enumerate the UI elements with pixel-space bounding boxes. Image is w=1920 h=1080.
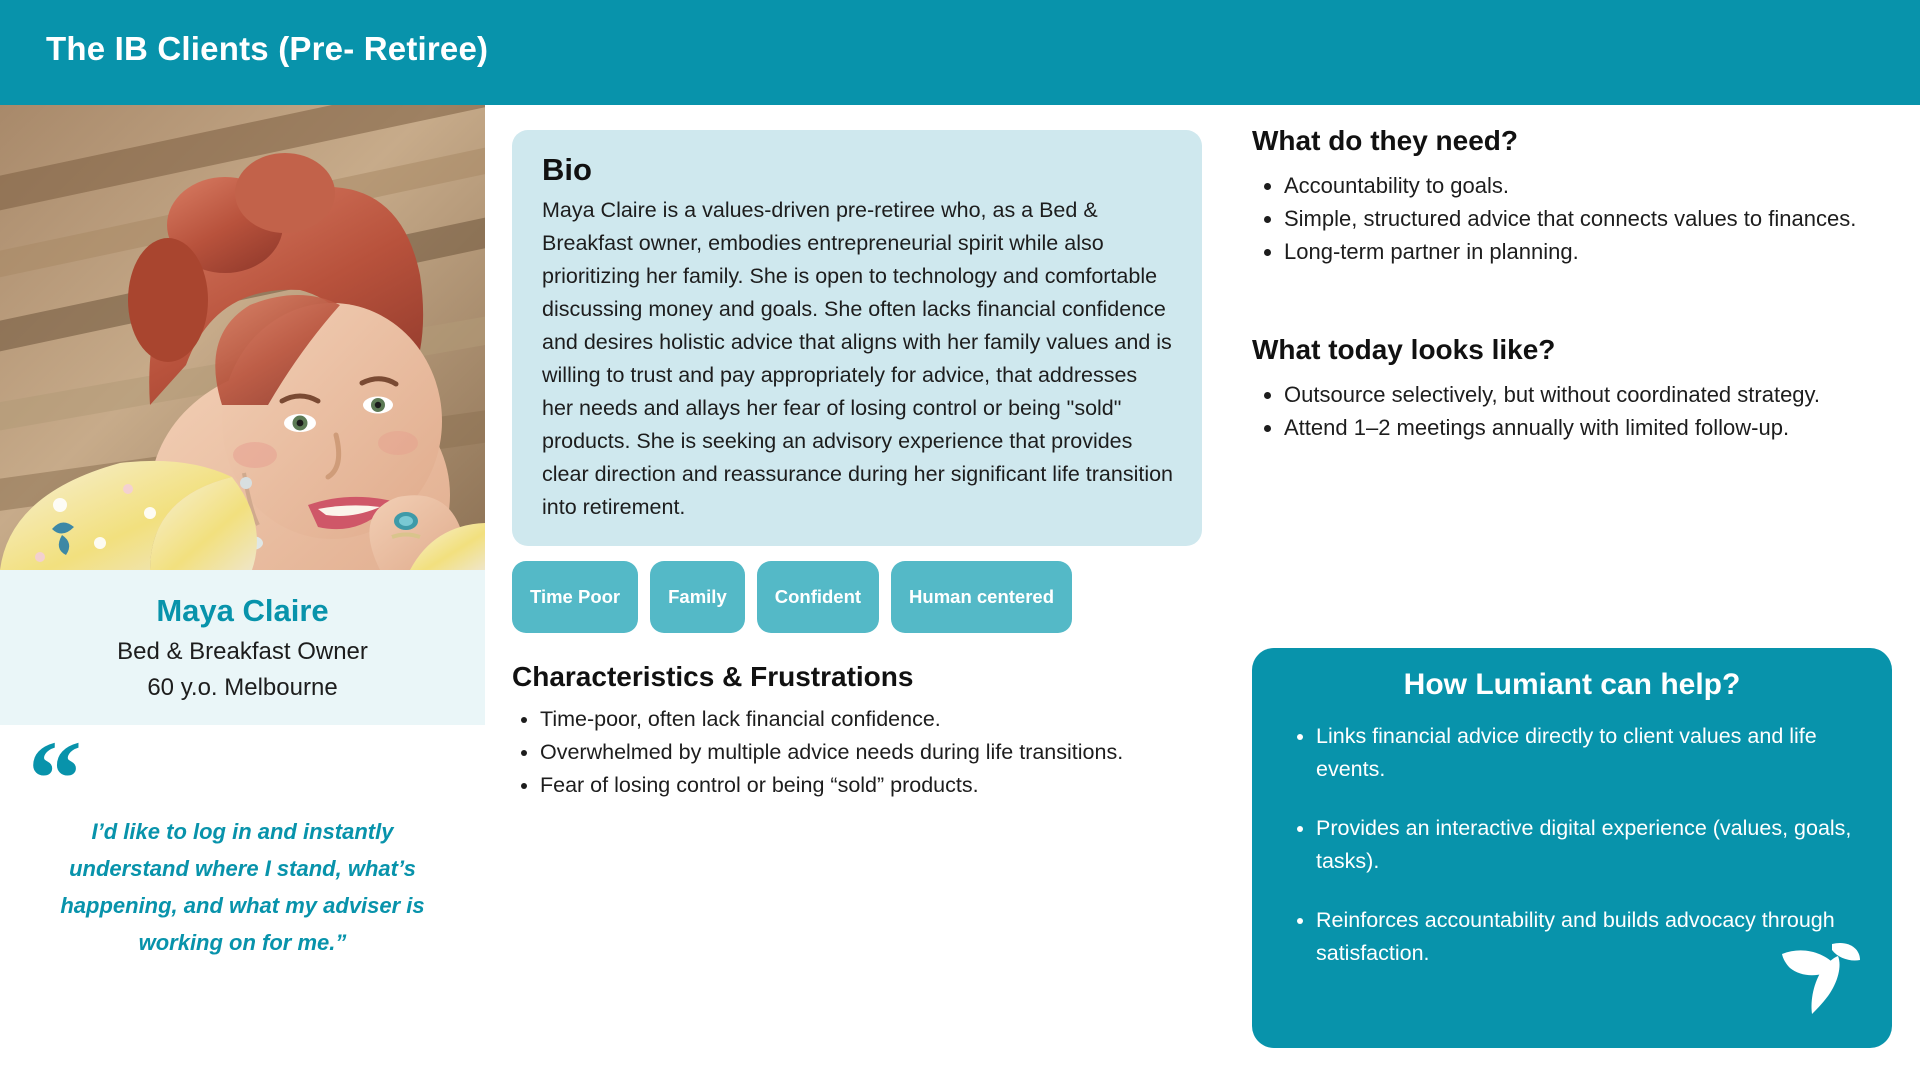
- persona-middle-column: Bio Maya Claire is a values-driven pre-r…: [512, 130, 1202, 802]
- list-item: Accountability to goals.: [1284, 169, 1892, 202]
- list-item: Fear of losing control or being “sold” p…: [540, 769, 1202, 801]
- persona-role: Bed & Breakfast Owner: [0, 634, 485, 670]
- persona-left-column: Maya Claire Bed & Breakfast Owner 60 y.o…: [0, 105, 485, 961]
- today-list: Outsource selectively, but without coord…: [1252, 378, 1892, 444]
- list-item: Provides an interactive digital experien…: [1316, 812, 1858, 878]
- persona-quote: I’d like to log in and instantly underst…: [43, 813, 443, 961]
- list-item: Reinforces accountability and builds adv…: [1316, 904, 1858, 970]
- list-item: Outsource selectively, but without coord…: [1284, 378, 1892, 411]
- quote-mark-icon: “: [28, 745, 82, 815]
- persona-right-column: What do they need? Accountability to goa…: [1252, 125, 1892, 444]
- bio-card: Bio Maya Claire is a values-driven pre-r…: [512, 130, 1202, 546]
- list-item: Long-term partner in planning.: [1284, 235, 1892, 268]
- persona-identity: Maya Claire Bed & Breakfast Owner 60 y.o…: [0, 570, 485, 725]
- characteristics-title: Characteristics & Frustrations: [512, 661, 1202, 693]
- persona-page: The IB Clients (Pre- Retiree): [0, 0, 1920, 1080]
- persona-age-location: 60 y.o. Melbourne: [0, 670, 485, 706]
- lumiant-bird-logo-icon: [1780, 938, 1862, 1016]
- persona-photo: [0, 105, 485, 570]
- needs-title: What do they need?: [1252, 125, 1892, 157]
- lumiant-help-card: How Lumiant can help? Links financial ad…: [1252, 648, 1892, 1048]
- list-item: Attend 1–2 meetings annually with limite…: [1284, 411, 1892, 444]
- bio-title: Bio: [542, 152, 1174, 188]
- section-spacer: [1252, 268, 1892, 334]
- trait-chip-family[interactable]: Family: [650, 561, 745, 633]
- trait-chip-confident[interactable]: Confident: [757, 561, 879, 633]
- trait-chip-human-centered[interactable]: Human centered: [891, 561, 1072, 633]
- characteristics-list: Time-poor, often lack financial confiden…: [512, 703, 1202, 801]
- today-title: What today looks like?: [1252, 334, 1892, 366]
- needs-list: Accountability to goals. Simple, structu…: [1252, 169, 1892, 268]
- page-header: The IB Clients (Pre- Retiree): [0, 0, 1920, 105]
- trait-chip-time-poor[interactable]: Time Poor: [512, 561, 638, 633]
- trait-chip-list: Time Poor Family Confident Human centere…: [512, 561, 1202, 633]
- persona-quote-block: “ I’d like to log in and instantly under…: [0, 725, 485, 961]
- list-item: Overwhelmed by multiple advice needs dur…: [540, 736, 1202, 768]
- list-item: Time-poor, often lack financial confiden…: [540, 703, 1202, 735]
- lumiant-list: Links financial advice directly to clien…: [1286, 720, 1858, 970]
- persona-name: Maya Claire: [0, 588, 485, 634]
- bio-text: Maya Claire is a values-driven pre-retir…: [542, 194, 1174, 524]
- portrait-illustration: [0, 105, 485, 570]
- page-title: The IB Clients (Pre- Retiree): [46, 30, 488, 68]
- list-item: Links financial advice directly to clien…: [1316, 720, 1858, 786]
- lumiant-title: How Lumiant can help?: [1286, 668, 1858, 702]
- list-item: Simple, structured advice that connects …: [1284, 202, 1892, 235]
